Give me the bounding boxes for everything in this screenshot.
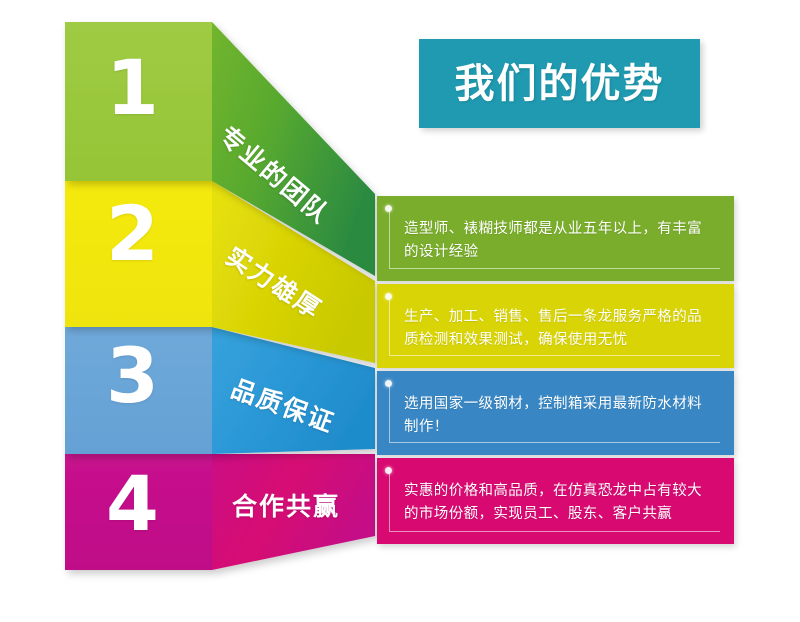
pin-dot-icon: [385, 293, 392, 300]
title-banner: 我们的优势: [419, 39, 700, 128]
ribbon-label-4: 合作共赢: [232, 495, 340, 520]
pin-dot-icon: [385, 205, 392, 212]
description-text-1: 造型师、裱糊技师都是从业五年以上，有丰富的设计经验: [404, 218, 712, 265]
description-card-2: 生产、加工、销售、售后一条龙服务严格的品质检测和效果测试，确保使用无忧: [377, 284, 734, 368]
step-number-3: 3: [106, 338, 159, 414]
description-card-4: 实惠的价格和高品质，在仿真恐龙中占有较大的市场份额，实现员工、股东、客户共赢: [377, 458, 734, 544]
description-card-3: 选用国家一级钢材，控制箱采用最新防水材料制作！: [377, 371, 734, 455]
infographic-canvas: 我们的优势 1 2 3 4 专业的团队 实力雄厚 品质保证 合作共赢 造型师、裱…: [0, 0, 800, 622]
description-text-2: 生产、加工、销售、售后一条龙服务严格的品质检测和效果测试，确保使用无忧: [404, 306, 712, 353]
description-text-3: 选用国家一级钢材，控制箱采用最新防水材料制作！: [404, 393, 712, 440]
step-number-1: 1: [106, 50, 159, 126]
step-number-4: 4: [106, 466, 159, 542]
pin-dot-icon: [385, 467, 392, 474]
page-title: 我们的优势: [419, 39, 700, 128]
pin-dot-icon: [385, 380, 392, 387]
description-text-4: 实惠的价格和高品质，在仿真恐龙中占有较大的市场份额，实现员工、股东、客户共赢: [404, 480, 712, 527]
description-card-1: 造型师、裱糊技师都是从业五年以上，有丰富的设计经验: [377, 196, 734, 281]
step-number-2: 2: [106, 196, 159, 272]
